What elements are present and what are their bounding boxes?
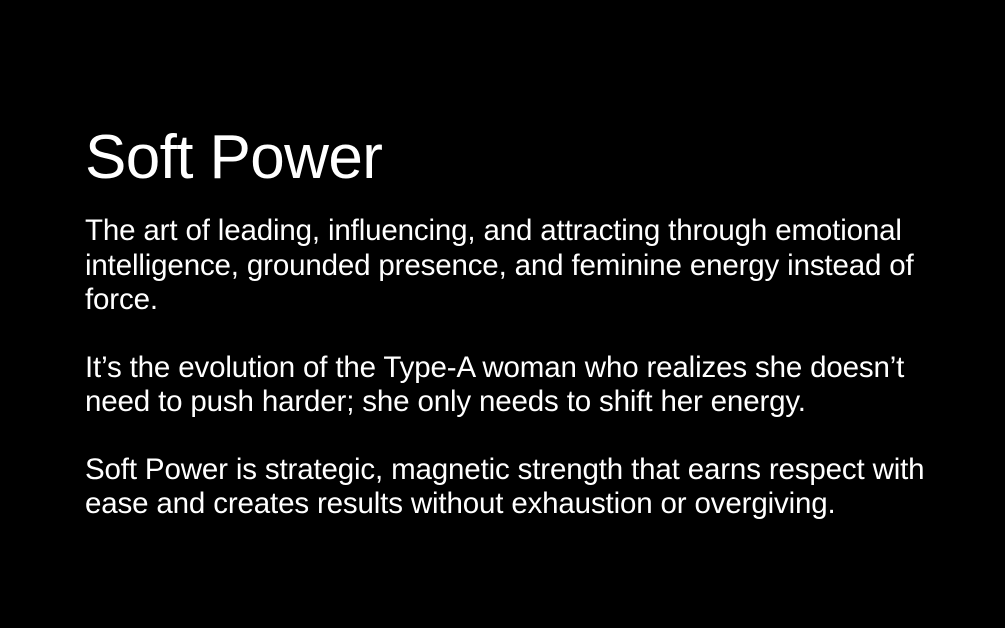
body-paragraph-strength: Soft Power is strategic, magnetic streng… [85, 453, 935, 522]
slide-body: The art of leading, influencing, and att… [85, 214, 940, 522]
presentation-slide: Soft Power The art of leading, influenci… [0, 0, 1005, 628]
slide-content: Soft Power The art of leading, influenci… [85, 126, 940, 522]
body-paragraph-definition: The art of leading, influencing, and att… [85, 214, 935, 318]
body-paragraph-evolution: It’s the evolution of the Type-A woman w… [85, 351, 935, 420]
slide-title: Soft Power [85, 126, 940, 190]
